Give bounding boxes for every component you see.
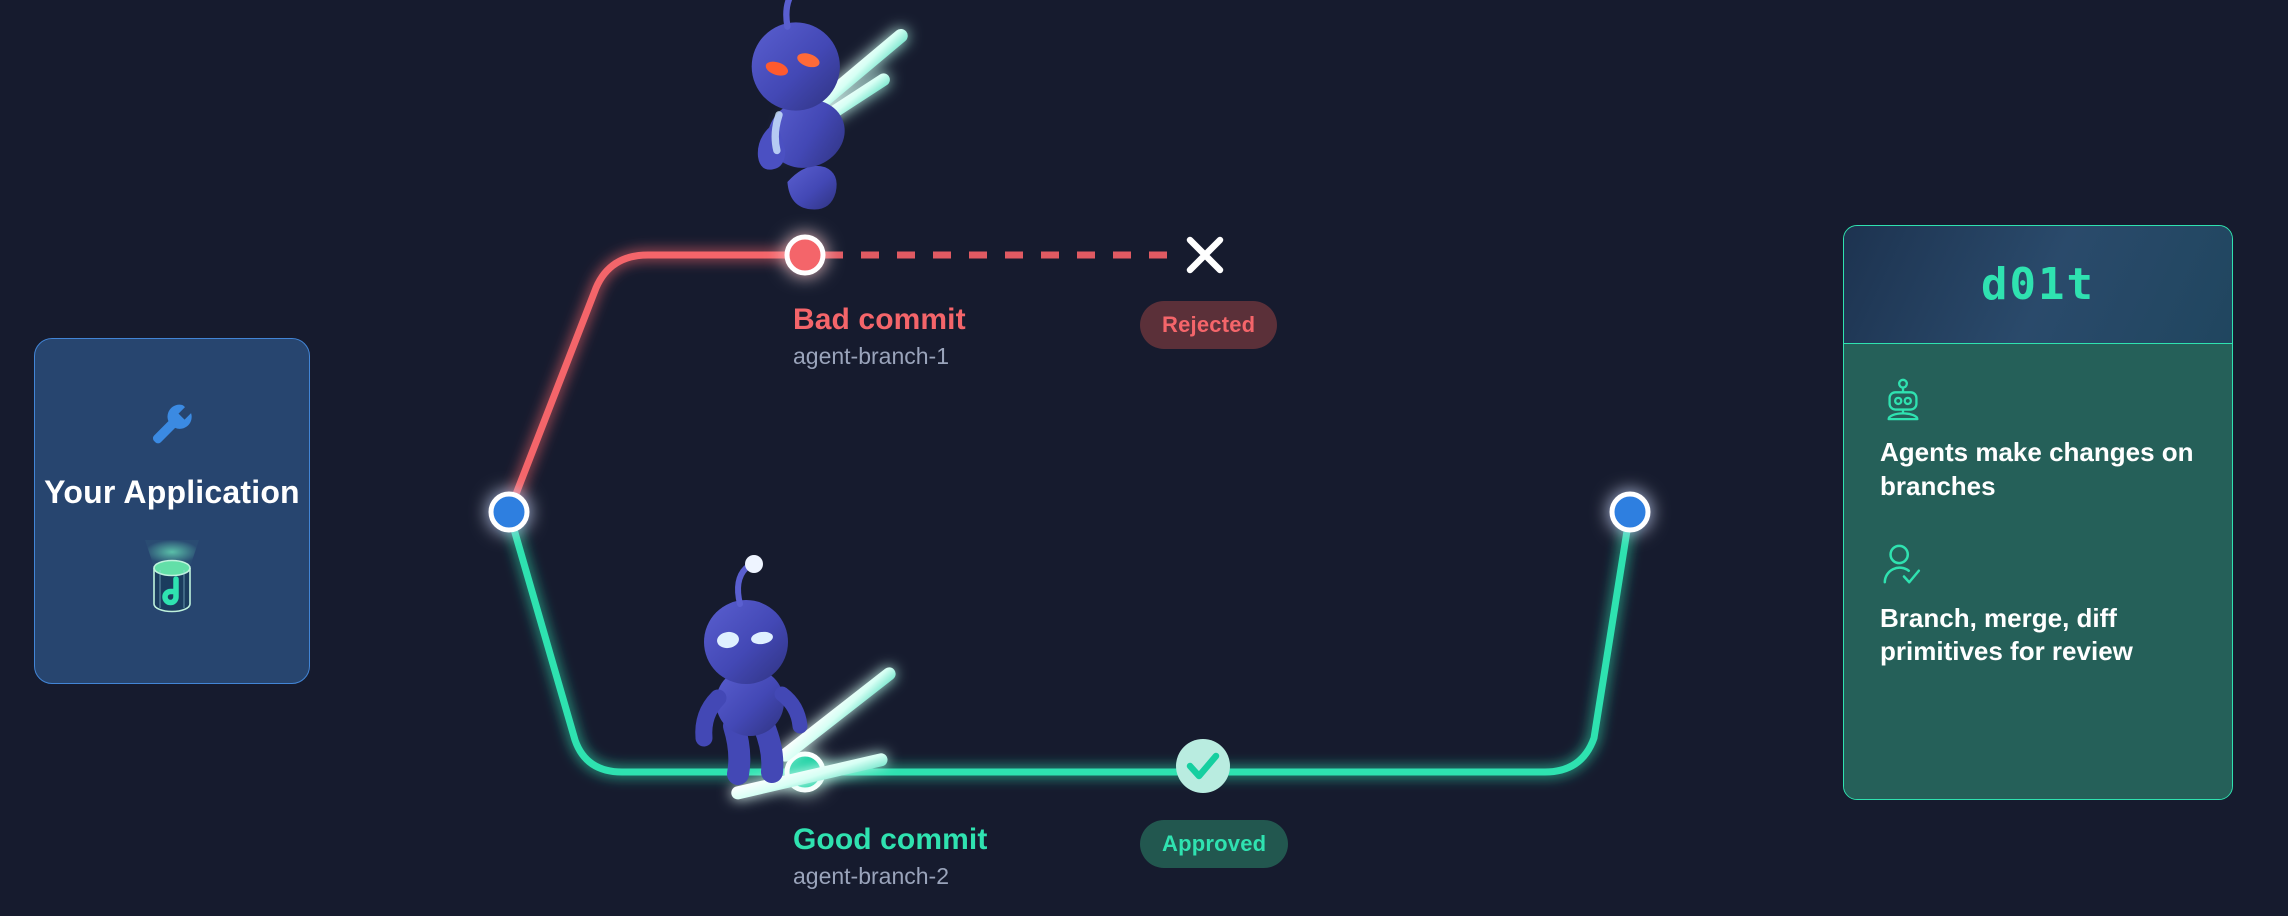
your-application-card[interactable]: Your Application xyxy=(34,338,310,684)
your-application-title: Your Application xyxy=(44,472,300,512)
good-commit-title: Good commit xyxy=(793,823,987,857)
feature-branch-merge-diff-text: Branch, merge, diff primitives for revie… xyxy=(1880,602,2196,670)
dolt-logo: d01t xyxy=(1981,259,2095,310)
wrench-icon xyxy=(146,398,198,450)
person-check-icon xyxy=(1880,542,2196,588)
status-badge-rejected[interactable]: Rejected xyxy=(1140,301,1277,349)
check-circle-icon[interactable] xyxy=(1176,739,1230,793)
feature-agents-branches: Agents make changes on branches xyxy=(1880,376,2196,504)
commit-node-icon[interactable] xyxy=(491,494,527,530)
good-commit-label-group: Good commit agent-branch-2 xyxy=(793,823,987,890)
bad-commit-label-group: Bad commit agent-branch-1 xyxy=(793,303,966,370)
dolt-info-panel[interactable]: d01t Agents make changes on branches xyxy=(1843,225,2233,800)
merge-node-icon[interactable] xyxy=(1612,494,1648,530)
bad-branch-line xyxy=(509,255,805,512)
dolt-panel-body: Agents make changes on branches Branch, … xyxy=(1844,344,2232,799)
good-branch-line xyxy=(509,512,1630,772)
dolt-panel-header: d01t xyxy=(1844,226,2232,344)
good-commit-node-icon[interactable] xyxy=(787,754,823,790)
bad-commit-node-icon[interactable] xyxy=(787,237,823,273)
robot-icon xyxy=(1880,376,2196,422)
feature-branch-merge-diff: Branch, merge, diff primitives for revie… xyxy=(1880,542,2196,670)
angry-robot-skier-icon xyxy=(752,0,911,210)
dolt-database-icon xyxy=(135,538,209,624)
status-badge-approved[interactable]: Approved xyxy=(1140,820,1288,868)
feature-agents-branches-text: Agents make changes on branches xyxy=(1880,436,2196,504)
bad-commit-title: Bad commit xyxy=(793,303,966,337)
happy-robot-skier-icon xyxy=(704,555,898,801)
diagram-canvas: Your Application Bad commit agent-branch… xyxy=(0,0,2288,916)
good-commit-branch-name: agent-branch-2 xyxy=(793,863,987,890)
close-x-icon[interactable] xyxy=(1190,240,1220,270)
bad-commit-branch-name: agent-branch-1 xyxy=(793,343,966,370)
